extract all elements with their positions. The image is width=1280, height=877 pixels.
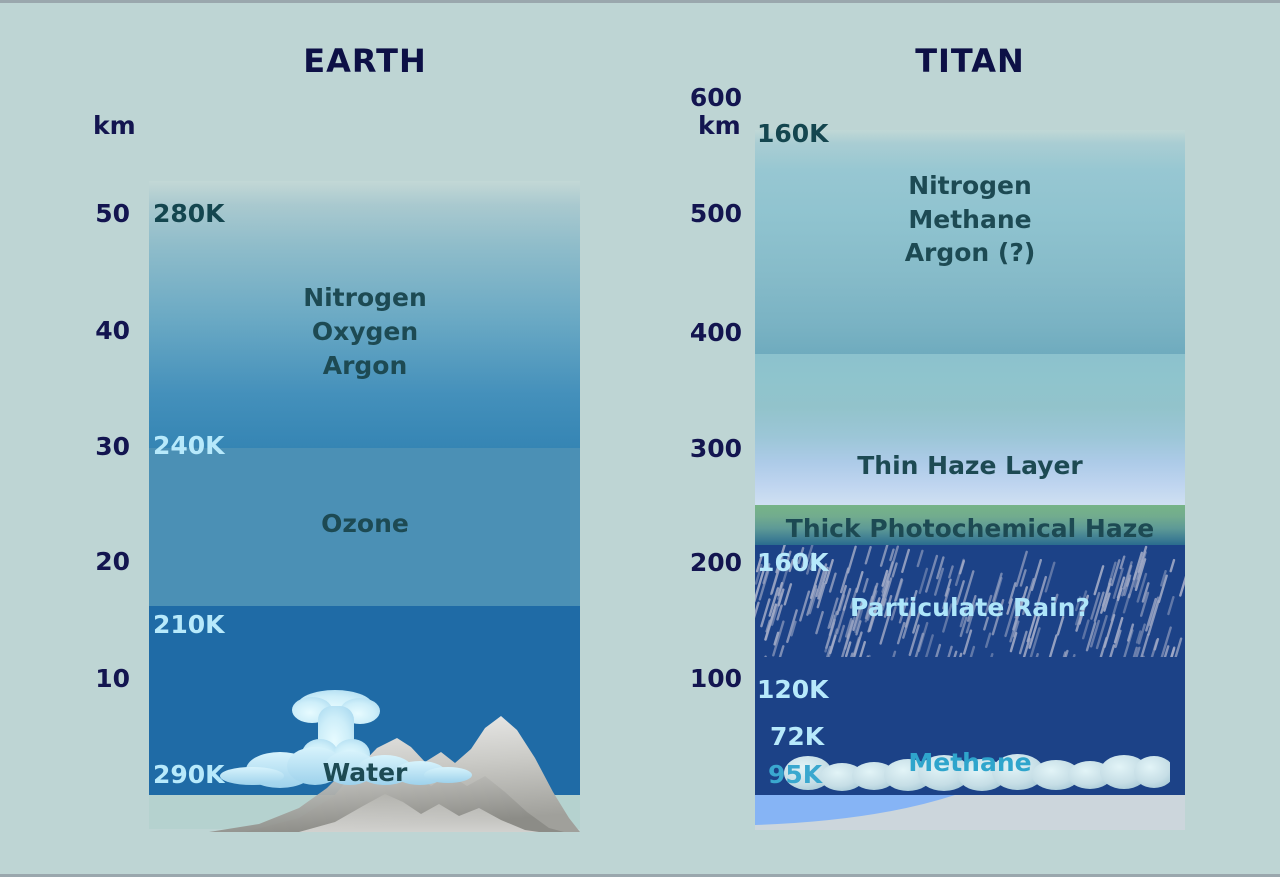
titan-tick-600: 600 bbox=[680, 83, 742, 112]
titan-tick-100: 100 bbox=[680, 664, 742, 693]
titan-tick-500: 500 bbox=[680, 199, 742, 228]
titan-label-rain: Particulate Rain? bbox=[760, 593, 1180, 622]
titan-temp-72K: 72K bbox=[770, 722, 824, 751]
titan-label-thick-haze: Thick Photochemical Haze bbox=[755, 514, 1185, 543]
titan-temp-160K-rain: 160K bbox=[757, 548, 829, 577]
titan-temp-120K: 120K bbox=[757, 675, 829, 704]
titan-panel: TITAN 600 km 500 400 300 200 100 bbox=[0, 0, 1280, 877]
titan-label-methane: Methane bbox=[810, 748, 1130, 777]
titan-gas-nitrogen: Nitrogen bbox=[860, 171, 1080, 200]
titan-methane-lake bbox=[755, 795, 1185, 830]
titan-temp-160K-top: 160K bbox=[757, 119, 829, 148]
titan-gas-methane: Methane bbox=[860, 205, 1080, 234]
titan-tick-200: 200 bbox=[680, 548, 742, 577]
titan-axis-unit: km bbox=[698, 111, 741, 140]
titan-label-thin-haze: Thin Haze Layer bbox=[760, 451, 1180, 480]
titan-thin-haze-band bbox=[755, 354, 1185, 505]
titan-title: TITAN bbox=[810, 42, 1130, 80]
titan-tick-400: 400 bbox=[680, 318, 742, 347]
titan-tick-300: 300 bbox=[680, 434, 742, 463]
titan-gas-argon: Argon (?) bbox=[860, 238, 1080, 267]
